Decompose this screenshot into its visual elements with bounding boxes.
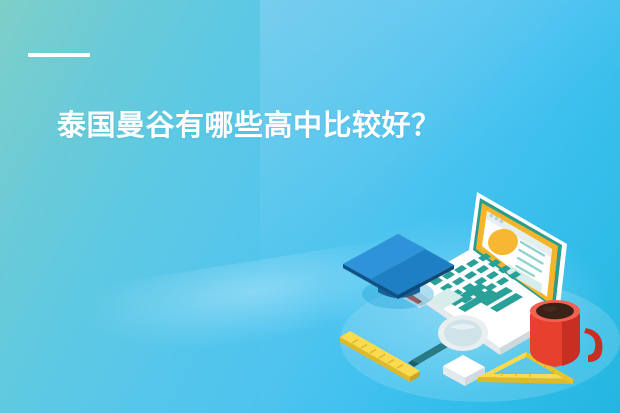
page-title: 泰国曼谷有哪些高中比较好？: [57, 106, 577, 146]
title-rule: [28, 53, 90, 57]
article-cover-banner: 泰国曼谷有哪些高中比较好？: [0, 0, 620, 413]
education-desk-illustration: [330, 180, 620, 413]
coffee-surface: [536, 303, 574, 319]
